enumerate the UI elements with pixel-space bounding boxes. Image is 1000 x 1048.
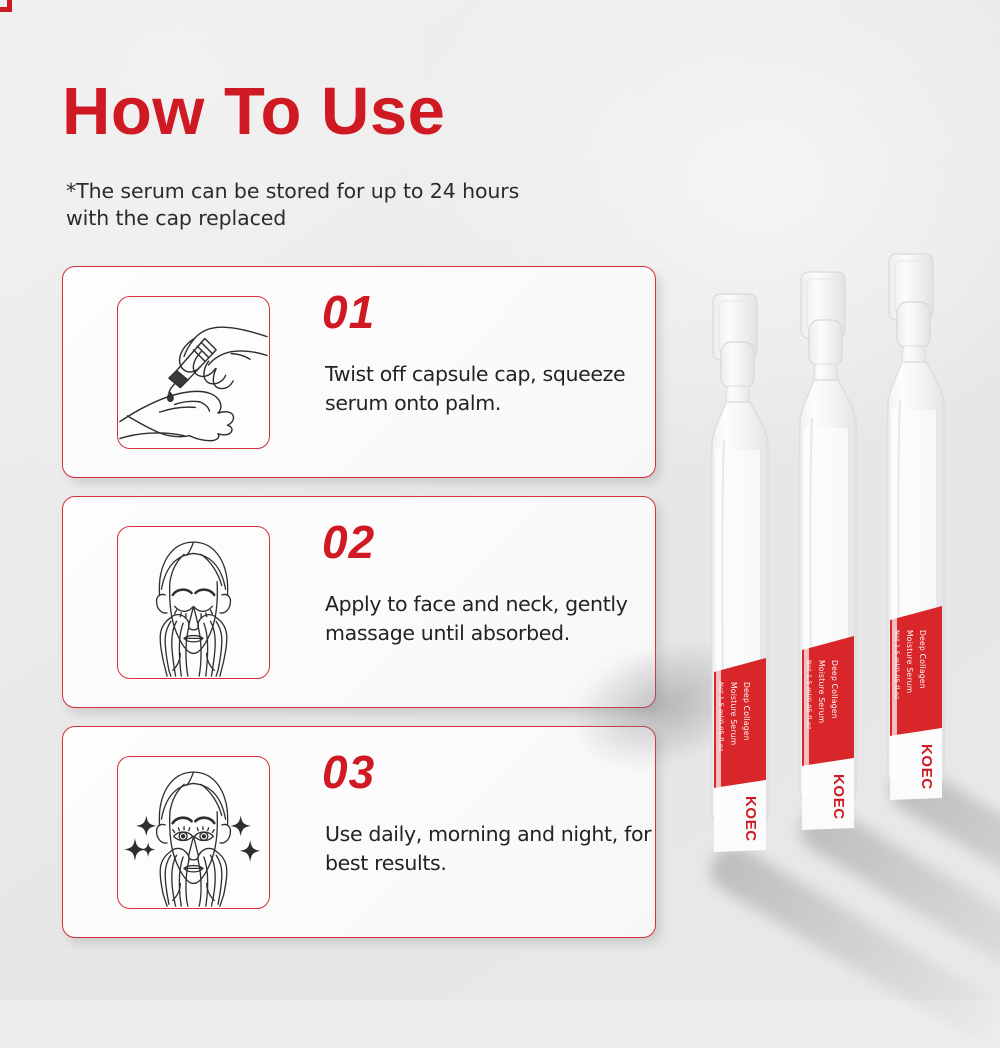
product-capsule-group: Deep Collagen Moisture Serum Net 1.5 ml/… <box>660 250 1000 1000</box>
product-label-line-2: Moisture Serum <box>817 660 826 723</box>
step-number-03: 03 <box>322 749 375 795</box>
page-title: How To Use <box>62 78 445 145</box>
product-label-line-2: Moisture Serum <box>905 630 914 693</box>
corner-crop-mark <box>0 0 12 12</box>
product-label-line-1: Deep Collagen <box>918 630 927 689</box>
step-card-01[interactable]: 01 Twist off capsule cap, squeeze serum … <box>62 266 656 478</box>
storage-note: *The serum can be stored for up to 24 ho… <box>66 178 536 232</box>
serum-ampoule-icon: Deep Collagen Moisture Serum Net 1.5 ml/… <box>876 250 954 850</box>
face-massage-closed-eyes-icon <box>118 527 269 678</box>
step-thumbnail-01 <box>117 296 270 449</box>
infographic-stage: How To Use *The serum can be stored for … <box>0 0 1000 1000</box>
product-capsule-3[interactable]: Deep Collagen Moisture Serum Net 1.5 ml/… <box>876 250 954 850</box>
step-description-03: Use daily, morning and night, for best r… <box>325 820 655 878</box>
serum-ampoule-icon: Deep Collagen Moisture Serum Net 1.5 ml/… <box>700 290 778 890</box>
product-label-line-1: Deep Collagen <box>742 682 751 741</box>
product-capsule-2[interactable]: Deep Collagen Moisture Serum Net 1.5 ml/… <box>788 268 866 868</box>
serum-ampoule-icon: Deep Collagen Moisture Serum Net 1.5 ml/… <box>788 268 866 868</box>
step-card-02[interactable]: 02 Apply to face and neck, gently massag… <box>62 496 656 708</box>
step-thumbnail-02 <box>117 526 270 679</box>
hand-squeezing-capsule-icon <box>118 297 269 448</box>
step-thumbnail-03 <box>117 756 270 909</box>
product-capsule-1[interactable]: Deep Collagen Moisture Serum Net 1.5 ml/… <box>700 290 778 890</box>
product-label-line-2: Moisture Serum <box>729 682 738 745</box>
step-card-03[interactable]: 03 Use daily, morning and night, for bes… <box>62 726 656 938</box>
step-number-01: 01 <box>322 289 375 335</box>
step-description-01: Twist off capsule cap, squeeze serum ont… <box>325 360 655 418</box>
product-label-line-1: Deep Collagen <box>830 660 839 719</box>
product-brand: KOEC <box>830 774 847 820</box>
product-brand: KOEC <box>742 796 759 842</box>
sparkles <box>124 816 261 862</box>
step-description-02: Apply to face and neck, gently massage u… <box>325 590 655 648</box>
glowing-face-sparkles-icon <box>118 757 269 908</box>
step-number-02: 02 <box>322 519 375 565</box>
product-brand: KOEC <box>918 744 935 790</box>
